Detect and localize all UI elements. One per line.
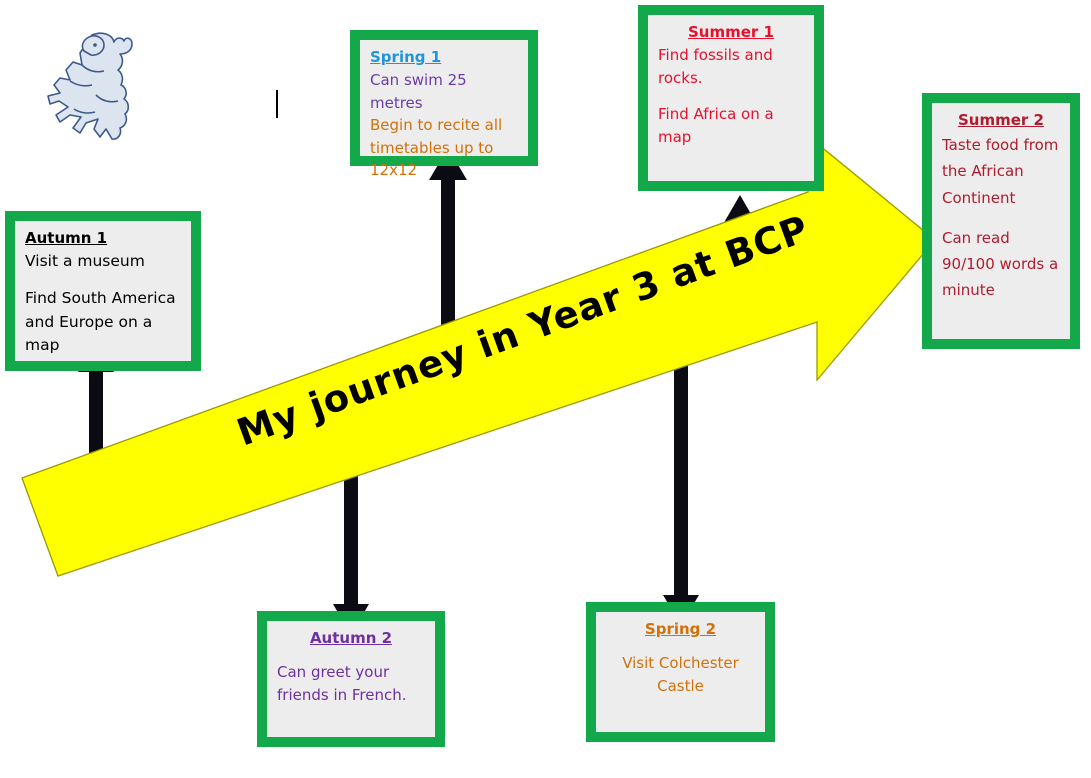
milestone-line: Taste food from the African Continent xyxy=(942,132,1060,211)
milestone-line: Can swim 25 metres xyxy=(370,69,518,114)
milestone-line: Begin to recite all timetables up to 12x… xyxy=(370,114,518,182)
milestone-box-spring2[interactable]: Spring 2 Visit Colchester Castle xyxy=(586,602,775,742)
milestone-header-summer2: Summer 2 xyxy=(942,111,1060,129)
milestone-box-spring1[interactable]: Spring 1 Can swim 25 metres Begin to rec… xyxy=(350,30,538,166)
connector-spring1-arrow xyxy=(429,148,467,420)
milestone-header-spring1: Spring 1 xyxy=(370,48,518,66)
milestone-header-spring2: Spring 2 xyxy=(606,620,755,638)
milestone-box-summer1[interactable]: Summer 1 Find fossils and rocks. Find Af… xyxy=(638,5,824,191)
text-caret-artifact xyxy=(276,90,278,118)
milestone-line: Find Africa on a map xyxy=(658,103,804,148)
milestone-header-summer1: Summer 1 xyxy=(658,23,804,41)
journey-poster: My journey in Year 3 at BCP Autumn 1 Vis… xyxy=(0,0,1091,778)
milestone-header-autumn1: Autumn 1 xyxy=(25,229,181,247)
milestone-line: Visit Colchester Castle xyxy=(606,652,755,697)
milestone-box-summer2[interactable]: Summer 2 Taste food from the African Con… xyxy=(922,93,1080,349)
milestone-header-autumn2: Autumn 2 xyxy=(277,629,425,647)
milestone-line: Find fossils and rocks. xyxy=(658,44,804,89)
heraldic-lion-logo xyxy=(40,25,140,145)
connector-spring2-arrow xyxy=(663,330,699,625)
milestone-line: Can greet your friends in French. xyxy=(277,661,425,706)
milestone-line: Visit a museum xyxy=(25,250,181,273)
milestone-box-autumn2[interactable]: Autumn 2 Can greet your friends in Frenc… xyxy=(257,611,445,747)
milestone-line: Can read 90/100 words a minute xyxy=(942,225,1060,304)
connector-autumn2-arrow xyxy=(333,400,369,635)
milestone-box-autumn1[interactable]: Autumn 1 Visit a museum Find South Ameri… xyxy=(5,211,201,371)
connector-summer1-arrow xyxy=(722,195,758,330)
milestone-line: Find South America and Europe on a map xyxy=(25,287,181,357)
banner-caption: My journey in Year 3 at BCP xyxy=(231,207,814,454)
